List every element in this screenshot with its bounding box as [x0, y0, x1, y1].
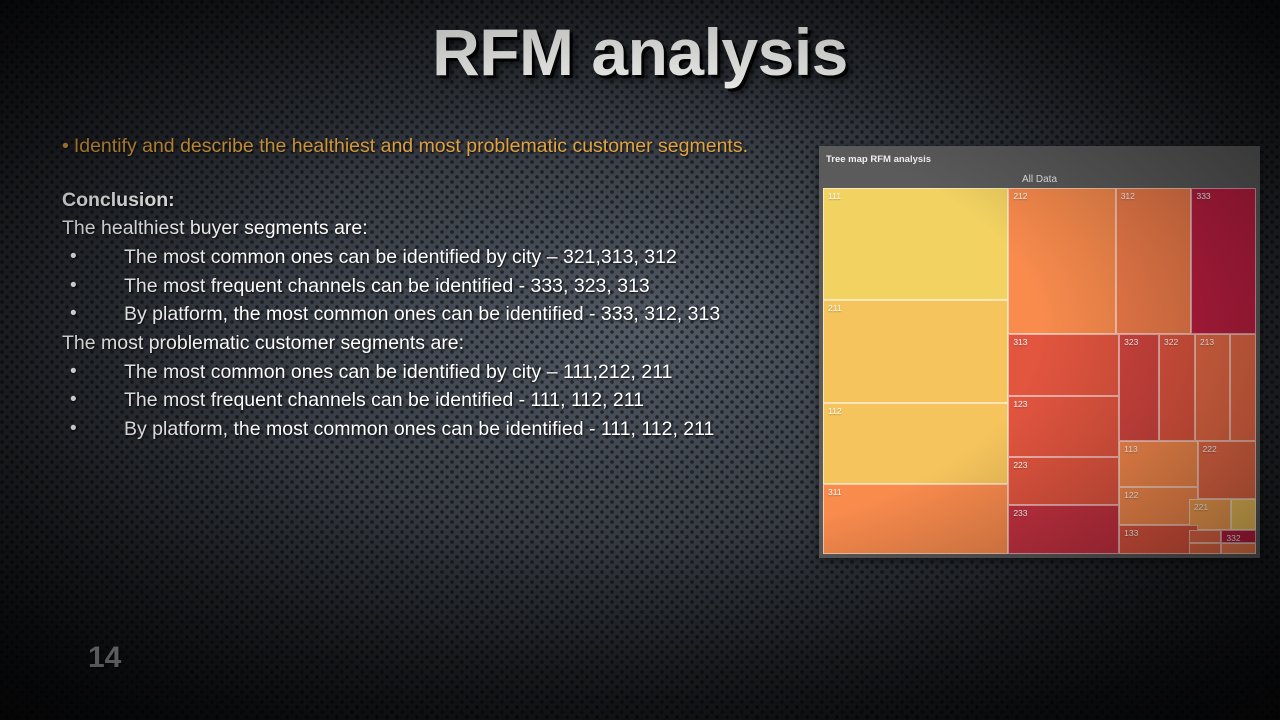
- list-item-text: By platform, the most common ones can be…: [124, 418, 714, 440]
- treemap-tile-133[interactable]: 133: [1119, 525, 1197, 554]
- treemap-tile-label: 212: [1013, 191, 1027, 201]
- treemap-tile-label: 332: [1226, 533, 1240, 542]
- treemap-tile-312[interactable]: 312: [1116, 188, 1192, 334]
- treemap-tile-label: 223: [1013, 460, 1027, 470]
- list-item: •The most frequent channels can be ident…: [62, 272, 802, 301]
- treemap-tile-311[interactable]: 311: [823, 484, 1008, 554]
- treemap-tile-label: 221: [1194, 502, 1208, 512]
- treemap-tile-213[interactable]: 213: [1195, 334, 1230, 440]
- page-title: RFM analysis: [0, 14, 1280, 90]
- treemap-tile[interactable]: [1189, 530, 1221, 542]
- bullet-glyph: •: [62, 135, 69, 157]
- treemap-tile-322[interactable]: 322: [1159, 334, 1195, 440]
- treemap-tile-122[interactable]: 122: [1119, 487, 1197, 525]
- treemap-tile-211[interactable]: 211: [823, 300, 1008, 404]
- treemap-tile-label: 311: [828, 487, 842, 497]
- treemap-tile-113[interactable]: 113: [1119, 441, 1197, 488]
- lead-bullet: •Identify and describe the healthiest an…: [62, 132, 802, 161]
- list-item-text: The most frequent channels can be identi…: [124, 275, 650, 297]
- treemap-plot: 1112111123112123131232232333123333233222…: [823, 188, 1256, 554]
- treemap-tile-label: 113: [1124, 444, 1138, 454]
- bullet-glyph: •: [70, 415, 77, 444]
- treemap-tile-313[interactable]: 313: [1008, 334, 1119, 395]
- slide-body: •Identify and describe the healthiest an…: [62, 132, 802, 443]
- treemap-tile-213b[interactable]: [1230, 334, 1256, 440]
- bullet-glyph: •: [70, 243, 77, 272]
- treemap-tile-333[interactable]: 333: [1191, 188, 1256, 334]
- page-number: 14: [88, 641, 121, 675]
- list-item-text: The most common ones can be identified b…: [124, 361, 673, 383]
- treemap-tile-323[interactable]: 323: [1119, 334, 1159, 440]
- slide: RFM analysis •Identify and describe the …: [0, 0, 1280, 720]
- treemap-tile-label: 313: [1013, 337, 1027, 347]
- list-item-text: By platform, the most common ones can be…: [124, 303, 720, 325]
- treemap-tile-label: 322: [1164, 337, 1178, 347]
- treemap-tile-label: 323: [1124, 337, 1138, 347]
- problem-bullet-list: •The most common ones can be identified …: [62, 358, 802, 444]
- treemap-tile-212[interactable]: 212: [1008, 188, 1115, 334]
- treemap-tile-label: 111: [828, 191, 841, 201]
- treemap-tile-label: 133: [1124, 528, 1138, 538]
- treemap-tile-label: 312: [1121, 191, 1135, 201]
- treemap-tile-222[interactable]: 222: [1198, 441, 1256, 500]
- treemap-title: Tree map RFM analysis: [826, 154, 931, 165]
- lead-text: Identify and describe the healthiest and…: [74, 135, 748, 157]
- list-item-text: The most frequent channels can be identi…: [124, 389, 644, 411]
- treemap-tile-label: 211: [828, 303, 842, 313]
- treemap-tile-label: 222: [1203, 444, 1217, 454]
- healthy-intro: The healthiest buyer segments are:: [62, 214, 802, 243]
- problem-intro: The most problematic customer segments a…: [62, 329, 802, 358]
- treemap-tile-123[interactable]: 123: [1008, 396, 1119, 457]
- bullet-glyph: •: [70, 272, 77, 301]
- treemap-tile-111[interactable]: 111: [823, 188, 1008, 300]
- treemap-tile[interactable]: [1189, 543, 1221, 554]
- treemap-tile-223[interactable]: 223: [1008, 457, 1119, 505]
- treemap-tile-label: 213: [1200, 337, 1214, 347]
- healthy-bullet-list: •The most common ones can be identified …: [62, 243, 802, 329]
- treemap-tile-332[interactable]: 332: [1221, 530, 1256, 542]
- treemap-panel: Tree map RFM analysis All Data 111211112…: [819, 146, 1260, 558]
- list-item-text: The most common ones can be identified b…: [124, 246, 677, 268]
- list-item: •The most frequent channels can be ident…: [62, 386, 802, 415]
- list-item: •By platform, the most common ones can b…: [62, 415, 802, 444]
- bullet-glyph: •: [70, 386, 77, 415]
- treemap-tile-233[interactable]: 233: [1008, 505, 1119, 554]
- treemap-tile-label: 123: [1013, 399, 1027, 409]
- list-item: •The most common ones can be identified …: [62, 243, 802, 272]
- bullet-glyph: •: [70, 300, 77, 329]
- list-item: •By platform, the most common ones can b…: [62, 300, 802, 329]
- treemap-tile[interactable]: [1221, 543, 1256, 554]
- treemap-tile-label: 112: [828, 406, 842, 416]
- conclusion-heading: Conclusion:: [62, 187, 802, 214]
- list-item: •The most common ones can be identified …: [62, 358, 802, 387]
- treemap-tile-label: 233: [1013, 508, 1027, 518]
- treemap-tile-label: 333: [1196, 191, 1210, 201]
- bullet-glyph: •: [70, 358, 77, 387]
- treemap-tile-112[interactable]: 112: [823, 403, 1008, 484]
- treemap-root-label: All Data: [819, 174, 1260, 185]
- treemap-tile-label: 122: [1124, 490, 1138, 500]
- treemap-tile[interactable]: [1231, 499, 1256, 530]
